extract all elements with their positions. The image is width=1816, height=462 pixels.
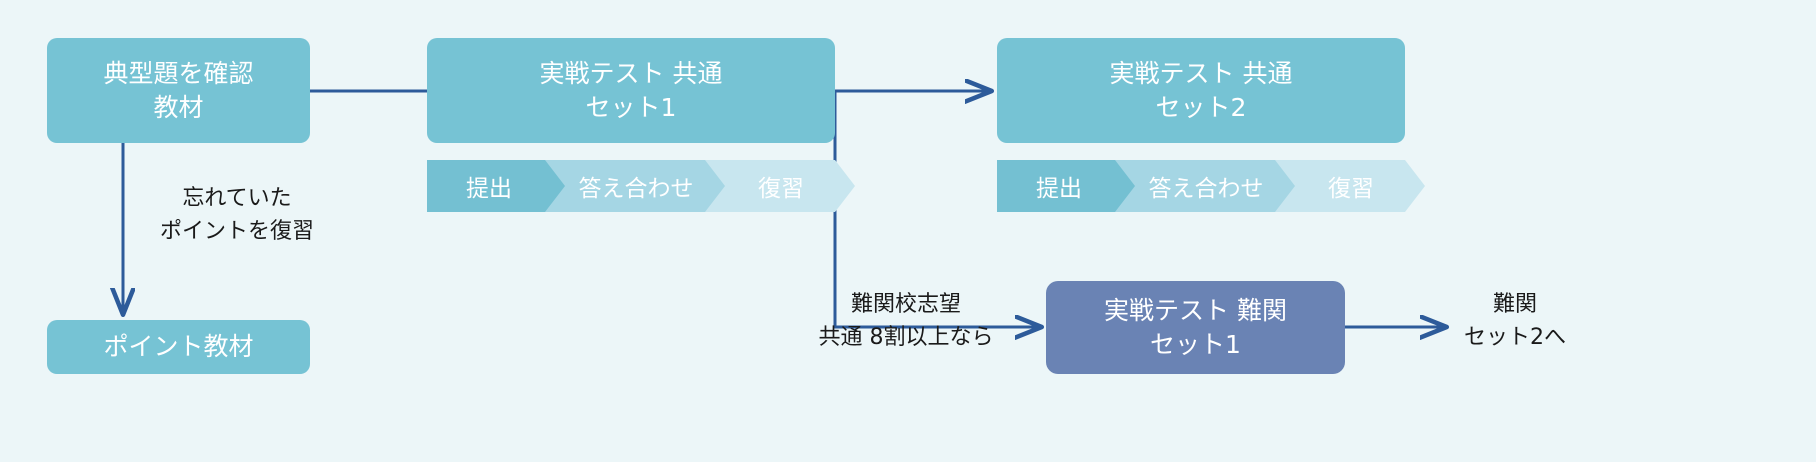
node-hard-set1-line1: 実戦テスト 難関: [1104, 294, 1287, 328]
step-strip-common-set1: 提出 答え合わせ 復習: [427, 160, 835, 212]
step-check-answers-set1[interactable]: 答え合わせ: [545, 160, 705, 212]
edge-label-next-target: 難関 セット2へ: [1420, 288, 1610, 354]
node-hard-set1-line2: セット1: [1150, 328, 1241, 362]
node-common-set2-line1: 実戦テスト 共通: [1110, 57, 1293, 91]
node-common-set1-line1: 実戦テスト 共通: [540, 57, 723, 91]
step-check-answers-set2-label: 答え合わせ: [1149, 169, 1264, 203]
step-submit-set1[interactable]: 提出: [427, 160, 545, 212]
step-review-set2-label: 復習: [1328, 169, 1374, 203]
diagram-canvas: 典型題を確認 教材 実戦テスト 共通 セット1 実戦テスト 共通 セット2 ポイ…: [0, 0, 1816, 462]
edge-label-review-forgotten-line2: ポイントを復習: [112, 215, 362, 248]
step-submit-set2[interactable]: 提出: [997, 160, 1115, 212]
node-typical-material[interactable]: 典型題を確認 教材: [47, 38, 310, 143]
step-strip-common-set2: 提出 答え合わせ 復習: [997, 160, 1405, 212]
step-check-answers-set2[interactable]: 答え合わせ: [1115, 160, 1275, 212]
node-common-set2[interactable]: 実戦テスト 共通 セット2: [997, 38, 1405, 143]
edge-label-next-target-line1: 難関: [1420, 288, 1610, 321]
node-common-set1[interactable]: 実戦テスト 共通 セット1: [427, 38, 835, 143]
edge-label-condition-line2: 共通 8割以上なら: [790, 321, 1022, 354]
step-review-set1-label: 復習: [758, 169, 804, 203]
step-submit-set1-label: 提出: [466, 169, 512, 203]
node-common-set1-line2: セット1: [586, 91, 677, 125]
edge-label-review-forgotten: 忘れていた ポイントを復習: [112, 182, 362, 248]
node-point-material[interactable]: ポイント教材: [47, 320, 310, 374]
node-point-material-line1: ポイント教材: [103, 330, 253, 364]
node-typical-material-line2: 教材: [153, 91, 203, 125]
step-check-answers-set1-label: 答え合わせ: [579, 169, 694, 203]
step-submit-set2-label: 提出: [1036, 169, 1082, 203]
edge-label-condition: 難関校志望 共通 8割以上なら: [790, 288, 1022, 354]
node-common-set2-line2: セット2: [1156, 91, 1247, 125]
edge-label-next-target-line2: セット2へ: [1420, 321, 1610, 354]
edge-label-review-forgotten-line1: 忘れていた: [112, 182, 362, 215]
node-hard-set1[interactable]: 実戦テスト 難関 セット1: [1046, 281, 1345, 374]
node-typical-material-line1: 典型題を確認: [103, 57, 253, 91]
edge-label-condition-line1: 難関校志望: [790, 288, 1022, 321]
